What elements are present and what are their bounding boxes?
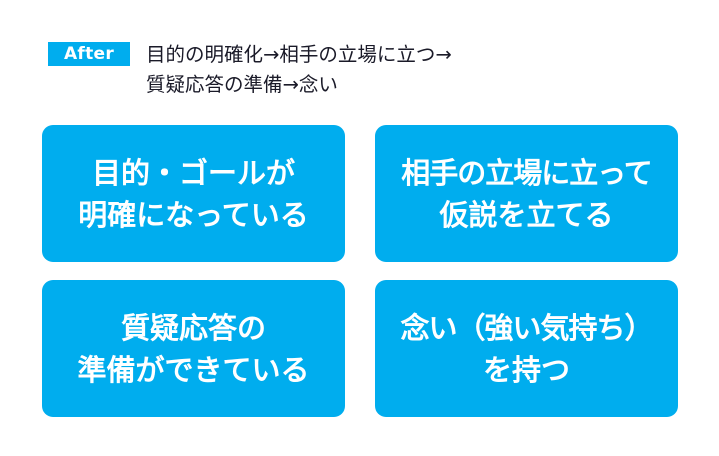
header-row: After 目的の明確化→相手の立場に立つ→ 質疑応答の準備→念い: [48, 40, 452, 100]
card-line-2: 仮説を立てる: [439, 194, 613, 236]
after-badge: After: [48, 42, 130, 66]
card-purpose-goal: 目的・ゴールが 明確になっている: [42, 125, 345, 262]
card-line-1: 念い（強い気持ち）: [400, 307, 652, 349]
card-line-1: 目的・ゴールが: [92, 152, 295, 194]
card-line-1: 質疑応答の: [121, 307, 266, 349]
card-line-1: 相手の立場に立って: [401, 152, 652, 194]
card-grid: 目的・ゴールが 明確になっている 相手の立場に立って 仮説を立てる 質疑応答の …: [42, 125, 678, 417]
card-counterpart-hypothesis: 相手の立場に立って 仮説を立てる: [375, 125, 678, 262]
slide-canvas: After 目的の明確化→相手の立場に立つ→ 質疑応答の準備→念い 目的・ゴール…: [0, 0, 719, 456]
header-summary-line-2: 質疑応答の準備→念い: [146, 70, 452, 100]
card-qa-preparation: 質疑応答の 準備ができている: [42, 280, 345, 417]
header-summary-text: 目的の明確化→相手の立場に立つ→ 質疑応答の準備→念い: [146, 40, 452, 100]
card-line-2: を持つ: [483, 349, 570, 391]
header-summary-line-1: 目的の明確化→相手の立場に立つ→: [146, 40, 452, 70]
card-strong-feeling: 念い（強い気持ち） を持つ: [375, 280, 678, 417]
card-line-2: 準備ができている: [77, 349, 309, 391]
card-line-2: 明確になっている: [78, 194, 309, 236]
